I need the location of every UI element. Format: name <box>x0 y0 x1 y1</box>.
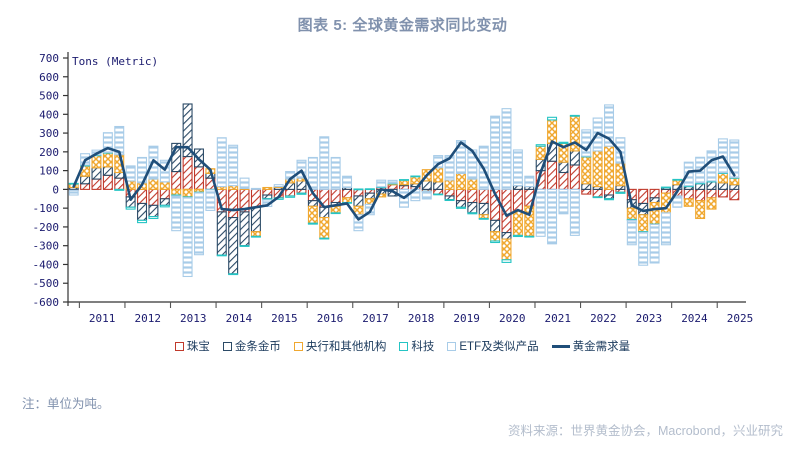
legend-item-central-banks[interactable]: 央行和其他机构 <box>294 338 387 354</box>
bar-segment <box>570 165 579 189</box>
legend-item-total-demand[interactable]: 黄金需求量 <box>552 338 631 354</box>
legend-item-bars-and-coins[interactable]: 金条金币 <box>223 338 281 354</box>
bar-segment <box>229 186 238 190</box>
bar-segment <box>160 189 169 198</box>
bar-segment <box>92 168 101 179</box>
bar-segment <box>377 180 386 187</box>
bar-segment <box>103 167 112 175</box>
bar-segment <box>559 162 568 172</box>
bar-segment <box>411 176 420 177</box>
bar-segment <box>457 201 466 208</box>
bar-segment <box>365 193 374 199</box>
bar-segment <box>422 181 431 189</box>
bar-segment <box>468 203 477 213</box>
bar-segment <box>263 195 272 199</box>
bar-segment <box>684 189 693 198</box>
bar-segment <box>160 182 169 190</box>
bar-segment <box>206 190 215 211</box>
bar-segment <box>696 184 705 190</box>
bar-segment <box>582 189 591 194</box>
bar-segment <box>354 189 363 190</box>
bar-segment <box>445 200 454 201</box>
bar-segment <box>639 232 648 265</box>
bar-segment <box>650 189 659 197</box>
bar-segment <box>707 151 716 181</box>
bar-segment <box>525 176 534 186</box>
bar-segment <box>149 179 158 189</box>
bar-segment <box>457 189 466 200</box>
bar-segment <box>172 189 181 195</box>
bar-segment <box>718 189 727 197</box>
bar-segment <box>502 109 511 190</box>
y-tick-label: -300 <box>33 240 60 253</box>
bar-segment <box>172 196 181 231</box>
x-tick-label: 2013 <box>180 312 207 325</box>
bar-segment <box>491 232 500 241</box>
y-tick-label: 400 <box>39 108 59 121</box>
legend-label-etf: ETF及类似产品 <box>459 338 538 354</box>
bar-segment <box>673 179 682 180</box>
bar-segment <box>570 151 579 165</box>
bar-segment <box>468 179 477 189</box>
bar-segment <box>707 182 716 190</box>
bar-segment <box>548 189 557 243</box>
bar-segment <box>491 220 500 231</box>
bar-segment <box>513 235 522 236</box>
bar-segment <box>445 196 454 200</box>
bar-segment <box>650 203 659 225</box>
bar-segment <box>479 218 488 219</box>
bar-segment <box>502 233 511 240</box>
bar-segment <box>138 203 147 220</box>
bar-segment <box>548 161 557 189</box>
bar-segment <box>718 183 727 190</box>
bar-segment <box>183 157 192 190</box>
bar-segment <box>684 199 693 207</box>
bar-segment <box>240 246 249 247</box>
bar-segment <box>240 212 249 246</box>
x-tick-label: 2012 <box>134 312 161 325</box>
bar-segment <box>251 189 260 207</box>
legend-line-total-demand <box>552 345 570 348</box>
bar-segment <box>434 168 443 182</box>
bar-segment <box>126 166 135 181</box>
bar-segment <box>103 175 112 189</box>
bar-segment <box>536 189 545 236</box>
bar-segment <box>217 138 226 187</box>
bar-segment <box>525 236 534 237</box>
bar-segment <box>308 206 317 223</box>
y-axis: 7006005004003002001000-100-200-300-400-5… <box>33 52 69 309</box>
bar-segment <box>229 189 238 217</box>
legend-item-technology[interactable]: 科技 <box>399 338 434 354</box>
bar-segment <box>217 255 226 256</box>
bar-segment <box>639 215 648 232</box>
bar-segment <box>696 201 705 219</box>
bar-segment <box>297 181 306 189</box>
x-tick-label: 2017 <box>362 312 389 325</box>
y-axis-unit-label: Tons (Metric) <box>72 55 158 68</box>
x-tick-label: 2024 <box>681 312 708 325</box>
bar-segment <box>730 178 739 185</box>
bar-segment <box>513 211 522 235</box>
bar-segment <box>343 189 352 197</box>
bar-segment <box>479 215 488 219</box>
bar-segment <box>240 178 249 188</box>
bar-segment <box>103 153 112 167</box>
bar-segment <box>570 189 579 235</box>
y-tick-label: 500 <box>39 90 59 103</box>
bar-segment <box>548 120 557 143</box>
bar-segment <box>251 232 260 237</box>
stacked-bars <box>69 104 738 276</box>
bar-segment <box>559 189 568 213</box>
bar-segment <box>354 196 363 206</box>
legend-label-bars-and-coins: 金条金币 <box>235 338 281 354</box>
bar-segment <box>115 178 124 189</box>
bar-segment <box>69 190 78 195</box>
bar-segment <box>593 197 602 198</box>
x-tick-label: 2021 <box>545 312 572 325</box>
bar-segment <box>331 213 340 214</box>
bar-segment <box>536 145 545 147</box>
bar-segment <box>479 189 488 203</box>
bar-segment <box>696 189 705 200</box>
bar-segment <box>445 180 454 189</box>
legend-label-jewellery: 珠宝 <box>187 338 210 354</box>
x-axis: 2011201220132014201520162017201820192020… <box>68 302 753 325</box>
bar-segment <box>422 191 431 199</box>
bar-segment <box>434 194 443 195</box>
bar-segment <box>297 193 306 194</box>
x-tick-label: 2018 <box>408 312 435 325</box>
bar-segment <box>183 189 192 197</box>
bar-segment <box>400 180 409 181</box>
legend-label-central-banks: 央行和其他机构 <box>306 338 387 354</box>
page-title: 图表 5: 全球黄金需求同比变动 <box>0 14 805 35</box>
bar-segment <box>605 146 614 189</box>
y-tick-label: -600 <box>33 296 60 309</box>
bar-segment <box>605 195 614 199</box>
bar-segment <box>126 207 135 209</box>
bar-segment <box>639 189 648 203</box>
bar-segment <box>662 189 671 193</box>
bar-segment <box>502 239 511 260</box>
y-tick-label: 600 <box>39 71 59 84</box>
y-tick-label: 300 <box>39 127 59 140</box>
bar-segment <box>343 198 352 203</box>
bar-segment <box>138 220 147 222</box>
bar-segment <box>593 151 602 187</box>
bar-segment <box>616 186 625 190</box>
bar-segment <box>160 205 169 207</box>
bar-segment <box>513 189 522 211</box>
bar-segment <box>308 201 317 207</box>
bar-segment <box>286 196 295 197</box>
bar-segment <box>92 156 101 168</box>
bar-segment <box>400 186 409 190</box>
bar-segment <box>559 142 568 143</box>
bar-segment <box>650 224 659 262</box>
bar-segment <box>320 207 329 217</box>
chart-plot-area: 7006005004003002001000-100-200-300-400-5… <box>0 45 805 335</box>
legend-swatch-bars-and-coins <box>223 342 232 351</box>
y-tick-label: -400 <box>33 258 60 271</box>
bar-segment <box>707 189 716 197</box>
bar-segment <box>650 198 659 203</box>
bar-segment <box>662 187 671 188</box>
chart-svg: 7006005004003002001000-100-200-300-400-5… <box>0 45 805 335</box>
bar-segment <box>468 213 477 214</box>
bar-segment <box>331 206 340 213</box>
bar-segment <box>172 172 181 190</box>
bar-segment <box>388 185 397 190</box>
bar-segment <box>343 176 352 187</box>
chart-note: 注：单位为吨。 <box>22 393 110 412</box>
bar-segment <box>730 189 739 199</box>
bar-segment <box>229 145 238 185</box>
bar-segment <box>286 189 295 196</box>
x-tick-label: 2020 <box>499 312 526 325</box>
bar-segment <box>434 189 443 194</box>
bar-segment <box>251 207 260 231</box>
bar-segment <box>662 213 671 245</box>
bar-segment <box>320 218 329 239</box>
y-tick-label: 0 <box>52 183 59 196</box>
bar-segment <box>479 203 488 214</box>
bar-segment <box>354 189 363 196</box>
bar-segment <box>718 173 727 182</box>
bar-segment <box>92 179 101 189</box>
legend-label-technology: 科技 <box>411 338 434 354</box>
bar-segment <box>263 189 272 195</box>
bar-segment <box>229 274 238 275</box>
bar-segment <box>582 130 591 156</box>
bar-segment <box>559 172 568 189</box>
y-tick-label: 200 <box>39 146 59 159</box>
chart-source: 资料来源：世界黄金协会，Macrobond，兴业研究 <box>508 420 783 439</box>
bar-segment <box>365 189 374 190</box>
bar-segment <box>468 189 477 202</box>
bar-segment <box>627 220 636 244</box>
legend-swatch-central-banks <box>294 342 303 351</box>
bar-segment <box>331 157 340 189</box>
y-tick-label: 100 <box>39 165 59 178</box>
legend-item-etf[interactable]: ETF及类似产品 <box>447 338 538 354</box>
bar-segment <box>434 182 443 190</box>
bar-segment <box>149 217 158 219</box>
bar-segment <box>491 116 500 189</box>
y-tick-label: -500 <box>33 277 60 290</box>
y-tick-label: -100 <box>33 202 60 215</box>
bar-segment <box>457 173 466 189</box>
legend-item-jewellery[interactable]: 珠宝 <box>175 338 210 354</box>
bar-segment <box>331 189 340 202</box>
x-tick-label: 2011 <box>89 312 116 325</box>
x-tick-label: 2023 <box>636 312 663 325</box>
bar-segment <box>536 146 545 159</box>
bar-segment <box>138 189 147 203</box>
bar-segment <box>445 189 454 196</box>
bar-segment <box>627 208 636 219</box>
bar-segment <box>195 193 204 255</box>
bar-segment <box>320 137 329 190</box>
bar-segment <box>513 150 522 186</box>
legend-swatch-etf <box>447 342 456 351</box>
bar-segment <box>491 241 500 243</box>
bar-segment <box>457 207 466 208</box>
bar-segment <box>81 176 90 184</box>
x-tick-label: 2025 <box>727 312 754 325</box>
bar-segment <box>582 184 591 190</box>
x-tick-label: 2016 <box>317 312 344 325</box>
bar-segment <box>605 199 614 200</box>
bar-segment <box>195 167 204 190</box>
bar-segment <box>730 185 739 190</box>
bar-segment <box>513 186 522 190</box>
bar-segment <box>251 236 260 237</box>
bar-segment <box>707 198 716 209</box>
y-tick-label: -200 <box>33 221 60 234</box>
bar-segment <box>388 180 397 183</box>
bar-segment <box>411 176 420 184</box>
bar-segment <box>297 189 306 193</box>
bar-segment <box>115 189 124 190</box>
bar-segment <box>274 185 283 187</box>
bar-segment <box>605 189 614 195</box>
x-tick-label: 2019 <box>453 312 480 325</box>
bar-segment <box>183 198 192 277</box>
x-tick-label: 2014 <box>226 312 253 325</box>
bar-segment <box>308 223 317 224</box>
bar-segment <box>217 212 226 255</box>
bar-segment <box>251 188 260 189</box>
bar-segment <box>149 189 158 205</box>
bar-segment <box>502 260 511 263</box>
legend-label-total-demand: 黄金需求量 <box>573 338 631 354</box>
bar-segment <box>548 117 557 120</box>
x-tick-label: 2015 <box>271 312 298 325</box>
bar-segment <box>115 172 124 178</box>
bar-segment <box>570 115 579 116</box>
bar-segment <box>263 188 272 190</box>
legend-swatch-jewellery <box>175 342 184 351</box>
bar-segment <box>320 238 329 239</box>
bar-segment <box>229 218 238 274</box>
chart-legend: 珠宝金条金币央行和其他机构科技ETF及类似产品黄金需求量 <box>0 338 805 354</box>
bar-segment <box>593 189 602 197</box>
bar-segment <box>81 184 90 190</box>
x-tick-label: 2022 <box>590 312 617 325</box>
y-tick-label: 700 <box>39 52 59 65</box>
bar-segment <box>616 192 625 193</box>
bar-segment <box>160 199 169 206</box>
bar-segment <box>582 157 591 184</box>
bar-segment <box>149 205 158 216</box>
legend-swatch-technology <box>399 342 408 351</box>
